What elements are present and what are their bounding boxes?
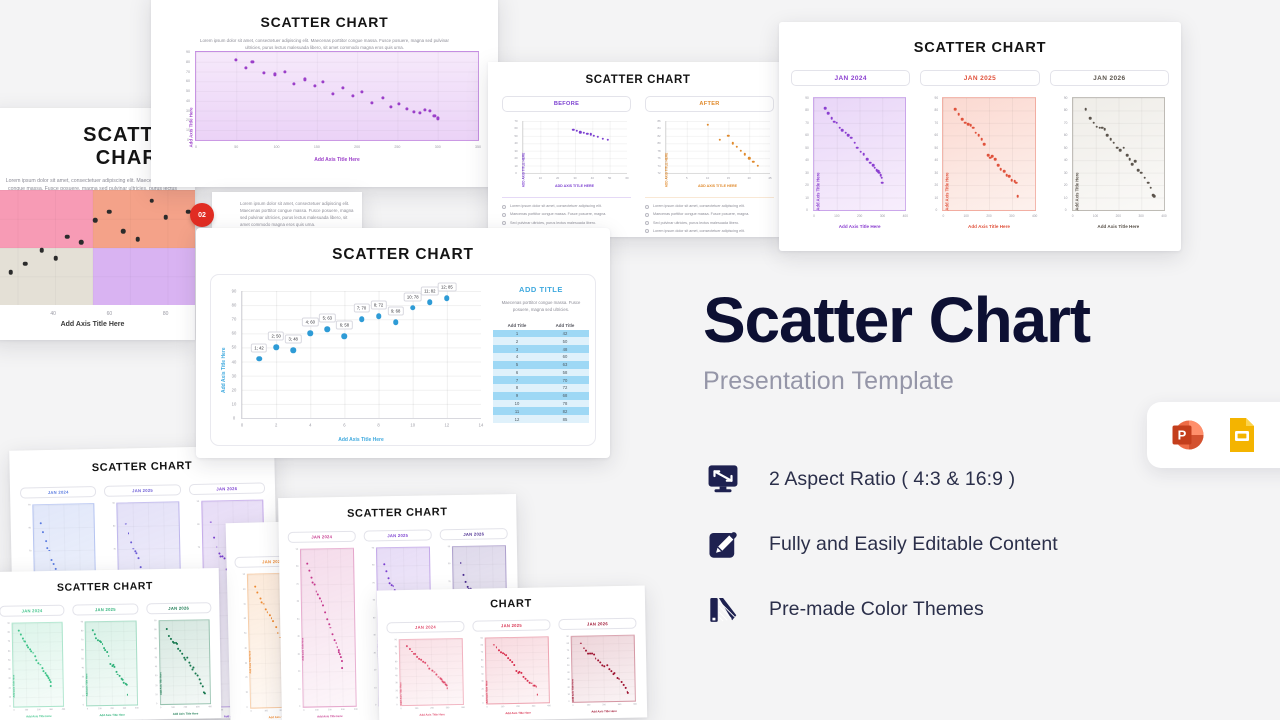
- data-point: [204, 692, 206, 694]
- panel-label-before[interactable]: BEFORE: [502, 96, 631, 112]
- page-title: Scatter Chart: [703, 288, 1183, 353]
- data-point-label: 12; 85: [438, 283, 457, 292]
- mini-panel-label[interactable]: JAN 2026: [189, 482, 266, 495]
- panel-label-after[interactable]: AFTER: [645, 96, 774, 112]
- mini-panel-label[interactable]: JAN 2024: [0, 605, 65, 617]
- data-point: [177, 647, 179, 649]
- x-tick: 300: [1009, 214, 1014, 218]
- y-tick: 90: [28, 504, 30, 506]
- axis-y-label: Add Axis Title Here: [399, 682, 402, 705]
- y-tick: 50: [935, 146, 939, 150]
- x-tick: 10: [706, 176, 709, 180]
- x-tick: 0: [251, 711, 252, 713]
- data-point: [79, 240, 84, 245]
- slide-wide-purple[interactable]: SCATTER CHART Lorem ipsum dolor sit amet…: [151, 0, 498, 187]
- data-point: [92, 630, 94, 632]
- data-point: [50, 559, 52, 561]
- x-tick: 100: [963, 214, 968, 218]
- x-tick: 0: [195, 145, 197, 149]
- panel-chart: 0102030405060700102030405060ADD AXIS TIT…: [502, 118, 631, 190]
- list-item: Maecenas porttitor congue massa. Fusce p…: [502, 212, 631, 217]
- data-point: [325, 326, 331, 332]
- x-tick: 200: [857, 214, 862, 218]
- x-tick: 200: [516, 706, 520, 708]
- x-tick: 15: [727, 176, 730, 180]
- plot-grid: [301, 549, 356, 707]
- y-tick: 30: [567, 679, 569, 681]
- y-tick: 0: [568, 701, 569, 703]
- x-tick: 200: [110, 708, 114, 710]
- labeled-chart-panel: 1; 422; 503; 484; 605; 636; 587; 708; 72…: [210, 274, 596, 446]
- x-tick: 300: [49, 709, 53, 711]
- y-tick: 90: [1064, 96, 1068, 100]
- y-tick: 70: [567, 650, 569, 652]
- x-tick: 100: [501, 706, 505, 708]
- y-tick: 80: [805, 108, 809, 112]
- data-point: [254, 585, 256, 587]
- axis-y-label: Add Axis Title Here: [485, 681, 488, 704]
- data-point: [136, 552, 138, 554]
- slide-theme-green[interactable]: SCATTER CHART JAN 2024010203040506070809…: [0, 568, 221, 720]
- axis-x-label: Add Axis Title Here: [486, 710, 550, 715]
- table-cell: 82: [541, 407, 589, 415]
- y-tick: 40: [186, 99, 190, 103]
- table-cell: 6: [493, 369, 541, 377]
- data-point: [273, 345, 279, 351]
- y-tick: 60: [514, 126, 517, 130]
- slide-title: SCATTER CHART: [488, 74, 788, 86]
- pencil-edit-icon: [703, 524, 743, 564]
- data-point-label: 6; 58: [336, 321, 352, 330]
- data-point: [853, 142, 856, 145]
- data-point: [328, 623, 330, 625]
- feature-row-1: 2 Aspect Ratio ( 4:3 & 16:9 ): [703, 459, 1183, 499]
- panel-label-1[interactable]: JAN 2024: [791, 70, 910, 86]
- wide-scatter-chart: 0102030405060708090050100150200250300350…: [165, 47, 485, 167]
- divider: [645, 197, 774, 198]
- data-point: [198, 678, 200, 680]
- data-point-label: 9; 68: [387, 307, 403, 316]
- axis-y-label: Add Axis Title Here: [221, 347, 227, 393]
- y-tick: 30: [245, 662, 247, 664]
- data-point: [193, 667, 195, 669]
- data-point: [23, 262, 28, 267]
- x-tick: 400: [135, 707, 139, 709]
- x-tick: 400: [1161, 214, 1166, 218]
- mini-panel-label[interactable]: JAN 2025: [472, 619, 550, 631]
- y-tick: 50: [395, 668, 397, 670]
- y-tick: 70: [154, 639, 156, 641]
- axis-x-label: Add Axis Title Here: [195, 157, 479, 163]
- x-tick: 150: [314, 145, 320, 149]
- data-point: [36, 659, 38, 661]
- data-point-label: 4; 60: [302, 318, 318, 327]
- y-tick: 10: [82, 695, 84, 697]
- mini-panel-chart: 01020304050607080900100200300400Add Axis…: [0, 620, 67, 720]
- data-point: [336, 646, 338, 648]
- panel-chart: 01020304050607080900100200300400Add Axis…: [791, 93, 910, 233]
- three-panel-item: JAN 202401020304050607080900100200300400…: [791, 70, 910, 233]
- x-tick: 400: [547, 705, 551, 707]
- svg-text:P: P: [1178, 428, 1187, 443]
- data-point: [54, 256, 59, 261]
- x-tick: 0: [572, 705, 573, 707]
- data-point: [52, 563, 54, 565]
- x-tick: 200: [1116, 214, 1121, 218]
- data-point: [1015, 181, 1018, 184]
- bullet-icon: [645, 229, 649, 233]
- table-cell: 5: [493, 361, 541, 369]
- table-cell: 85: [541, 415, 589, 423]
- y-tick: 40: [297, 636, 299, 638]
- plot-area: 01020304050607080900100200300400: [12, 622, 65, 708]
- y-tick: 40: [82, 667, 84, 669]
- x-tick: 200: [37, 709, 41, 711]
- y-tick: 70: [232, 317, 237, 322]
- y-tick: 0: [515, 171, 517, 175]
- list-item: Maecenas porttitor congue massa. Fusce p…: [645, 212, 774, 217]
- data-point: [535, 686, 537, 688]
- y-tick: 82: [657, 134, 660, 138]
- data-point: [580, 642, 582, 644]
- y-tick: 60: [186, 79, 190, 83]
- y-tick: 70: [198, 546, 200, 548]
- x-tick: 60: [625, 176, 628, 180]
- y-tick: 90: [186, 50, 190, 54]
- y-tick: 80: [243, 589, 245, 591]
- data-point: [983, 143, 986, 146]
- x-tick: 100: [587, 705, 591, 707]
- y-tick: 70: [395, 654, 397, 656]
- data-point: [319, 597, 321, 599]
- x-tick: 300: [123, 708, 127, 710]
- list-item-label: Maecenas porttitor congue massa. Fusce p…: [510, 212, 606, 217]
- feature-row-3: Pre-made Color Themes: [703, 589, 1183, 629]
- data-point: [954, 108, 957, 111]
- mini-panel-label[interactable]: JAN 2024: [288, 531, 356, 543]
- mini-panels-red: JAN 202401020304050607080900100200300400…: [377, 607, 647, 719]
- table-cell: 58: [541, 369, 589, 377]
- data-point: [610, 671, 612, 673]
- data-point: [593, 654, 595, 656]
- data-point: [850, 137, 853, 140]
- x-tick: 300: [446, 707, 450, 709]
- axis-y-label: ADD AXIS TITLE HERE: [521, 153, 525, 188]
- slide-labeled-scatter[interactable]: SCATTER CHART 1; 422; 503; 484; 605; 636…: [196, 228, 610, 458]
- y-tick: 10: [568, 694, 570, 696]
- x-tick: 30: [573, 176, 576, 180]
- table-row: 348: [493, 345, 589, 353]
- mini-panel-label[interactable]: JAN 2026: [558, 618, 636, 630]
- labeled-side-panel: ADD TITLE Maecenas porttitor congue mass…: [491, 275, 595, 445]
- data-point: [1153, 195, 1156, 198]
- data-point: [1123, 146, 1126, 149]
- plot-grid: [196, 52, 478, 140]
- y-tick: 50: [805, 146, 809, 150]
- mini-panel-label[interactable]: JAN 2025: [104, 484, 181, 497]
- y-tick: 40: [395, 675, 397, 677]
- data-point: [263, 603, 265, 605]
- data-point: [114, 666, 116, 668]
- plot-grid: [1073, 98, 1164, 210]
- y-tick: 20: [514, 156, 517, 160]
- bullet-icon: [502, 213, 506, 217]
- panel-label-2[interactable]: JAN 2025: [920, 70, 1039, 86]
- data-point: [48, 550, 50, 552]
- panel-label-3[interactable]: JAN 2026: [1050, 70, 1169, 86]
- data-point: [1089, 117, 1092, 120]
- slide-before-after[interactable]: SCATTER CHART BEFORE01020304050607001020…: [488, 62, 788, 237]
- mini-panel-label[interactable]: JAN 2025: [73, 603, 139, 615]
- data-point: [997, 164, 1000, 167]
- table-cell: 1: [493, 330, 541, 338]
- data-point: [1109, 138, 1112, 141]
- list-item-label: Sed pulvinar ultricies, purus lectus mal…: [653, 221, 739, 226]
- table-cell: 7: [493, 376, 541, 384]
- x-tick: 200: [328, 709, 332, 711]
- x-tick: 400: [633, 704, 637, 706]
- data-point: [259, 597, 261, 599]
- y-tick: 80: [296, 566, 298, 568]
- data-point: [827, 112, 830, 115]
- data-point: [121, 679, 123, 681]
- plot-area: 0102030405060700102030405060: [522, 121, 627, 174]
- y-tick: 50: [244, 633, 246, 635]
- y-tick: 30: [232, 373, 237, 378]
- x-tick: 0: [160, 707, 161, 709]
- data-point: [317, 594, 319, 596]
- y-tick: 0: [396, 704, 397, 706]
- panel-chart: 01020304050607080900100200300400Add Axis…: [1050, 93, 1169, 233]
- mini-panel-item: JAN 202601020304050607080900100200300400…: [558, 618, 638, 716]
- y-tick: 70: [113, 548, 115, 550]
- data-point: [188, 662, 190, 664]
- monitor-aspect-ratio-icon: [703, 459, 743, 499]
- y-tick: 20: [232, 387, 237, 392]
- y-tick: 90: [567, 636, 569, 638]
- y-tick: 10: [1064, 196, 1068, 200]
- axis-x-label: ADD AXIS TITLE HERE: [522, 184, 627, 188]
- data-point: [977, 134, 980, 137]
- axis-x-label: Add Axis Title Here: [303, 714, 357, 719]
- data-point: [196, 675, 198, 677]
- x-tick: 400: [208, 706, 212, 708]
- data-point: [958, 113, 961, 116]
- y-tick: 0: [482, 703, 483, 705]
- table-cell: 48: [541, 345, 589, 353]
- mini-panel-label[interactable]: JAN 2025: [364, 529, 432, 541]
- y-tick: 90: [243, 574, 245, 576]
- axis-x-label: Add Axis Title Here: [813, 224, 906, 229]
- feature-label: Pre-made Color Themes: [769, 598, 984, 621]
- mini-panel-chart: 01020304050607080900100200300400Add Axis…: [387, 636, 467, 719]
- data-point: [881, 181, 884, 184]
- data-point: [1147, 181, 1150, 184]
- data-point: [130, 541, 132, 543]
- table-cell: 42: [541, 330, 589, 338]
- data-point: [179, 650, 181, 652]
- plot-area: 01020304050607080900100200300400: [399, 638, 464, 706]
- table-header: Add Title: [541, 321, 589, 330]
- panel-chart: 01020304050607080900100200300400Add Axis…: [920, 93, 1039, 233]
- data-point: [320, 601, 322, 603]
- x-tick: 80: [163, 311, 169, 317]
- y-tick: 0: [233, 416, 235, 421]
- data-point: [49, 681, 51, 683]
- data-point: [308, 570, 310, 572]
- y-tick: 72: [657, 171, 660, 175]
- y-tick: 60: [481, 659, 483, 661]
- data-point: [433, 671, 435, 673]
- x-tick: 100: [1093, 214, 1098, 218]
- x-tick: 300: [341, 709, 345, 711]
- data-table: Add TitleAdd Title1422503484605636587708…: [493, 321, 589, 423]
- data-point: [22, 637, 24, 639]
- data-point: [831, 117, 834, 120]
- plot-area: 01020304050607080900100200300400: [942, 97, 1035, 211]
- data-point: [495, 647, 497, 649]
- data-point: [623, 684, 625, 686]
- y-tick: 30: [8, 678, 10, 680]
- axis-y-label: Add Axis Title Here: [12, 675, 15, 698]
- data-point: [1003, 170, 1006, 173]
- slide-three-panel[interactable]: SCATTER CHART JAN 2024010203040506070809…: [779, 22, 1181, 251]
- data-point: [272, 620, 274, 622]
- x-tick: 50: [234, 145, 238, 149]
- data-point: [1008, 175, 1011, 178]
- bullet-icon: [645, 205, 649, 209]
- y-tick: 50: [232, 345, 237, 350]
- table-row: 142: [493, 330, 589, 338]
- x-tick: 12: [445, 423, 450, 428]
- table-row: 968: [493, 392, 589, 400]
- x-tick: 5: [686, 176, 688, 180]
- y-tick: 90: [481, 638, 483, 640]
- data-point: [341, 660, 343, 662]
- data-point: [269, 615, 271, 617]
- data-point: [308, 331, 314, 337]
- mini-panel-label[interactable]: JAN 2024: [20, 486, 97, 499]
- y-tick: 90: [395, 639, 397, 641]
- y-tick: 50: [186, 89, 190, 93]
- y-tick: 0: [299, 706, 300, 708]
- data-point: [9, 270, 14, 275]
- y-tick: 40: [244, 648, 246, 650]
- table-cell: 72: [541, 384, 589, 392]
- mini-panel-item: JAN 202501020304050607080900100200300400…: [73, 603, 140, 719]
- y-tick: 10: [298, 688, 300, 690]
- data-point: [866, 158, 869, 161]
- mini-panel-label[interactable]: JAN 2026: [440, 528, 508, 540]
- data-point: [446, 687, 448, 689]
- y-tick: 10: [514, 164, 517, 168]
- y-tick: 70: [81, 640, 83, 642]
- list-item: Lorem ipsum dolor sit amet, consectetuer…: [645, 229, 774, 234]
- mini-panel-label[interactable]: JAN 2024: [386, 621, 464, 633]
- data-point: [427, 300, 433, 306]
- bullet-icon: [645, 213, 649, 217]
- data-point: [314, 583, 316, 585]
- y-tick: 70: [448, 581, 450, 583]
- slide-theme-red[interactable]: CHART JAN 202401020304050607080900100200…: [377, 585, 647, 720]
- google-slides-icon: [1222, 415, 1262, 455]
- plot-area: 0102030405060708090050100150200250300350: [195, 51, 479, 141]
- x-tick: 25: [768, 176, 771, 180]
- data-point: [139, 566, 141, 568]
- table-cell: 70: [541, 376, 589, 384]
- data-point: [40, 248, 45, 253]
- data-point: [856, 146, 859, 149]
- y-tick: 20: [298, 671, 300, 673]
- data-point: [95, 637, 97, 639]
- y-tick: 0: [9, 706, 10, 708]
- data-point: [1134, 160, 1137, 163]
- y-tick: 60: [1064, 133, 1068, 137]
- table-cell: 3: [493, 345, 541, 353]
- y-tick: 0: [247, 707, 248, 709]
- data-point: [599, 661, 601, 663]
- y-tick: 10: [232, 401, 237, 406]
- x-tick: 0: [1072, 214, 1074, 218]
- data-point: [1149, 186, 1152, 189]
- y-tick: 10: [805, 196, 809, 200]
- x-tick: 400: [461, 707, 465, 709]
- table-cell: 63: [541, 361, 589, 369]
- y-tick: 90: [296, 549, 298, 551]
- table-row: 1182: [493, 407, 589, 415]
- y-tick: 0: [806, 208, 808, 212]
- data-point: [190, 665, 192, 667]
- axis-x-label: Add Axis Title Here: [160, 711, 211, 716]
- data-point: [168, 635, 170, 637]
- slide-title: SCATTER CHART: [196, 246, 610, 264]
- data-point: [1144, 176, 1147, 179]
- x-tick: 40: [591, 176, 594, 180]
- data-point: [55, 568, 57, 570]
- data-point: [128, 532, 130, 534]
- data-point: [223, 557, 225, 559]
- plot-area: 01020304050607080900100200300400: [300, 548, 357, 708]
- data-point: [125, 523, 127, 525]
- table-header: Add Title: [493, 321, 541, 330]
- x-tick: 0: [400, 708, 401, 710]
- y-tick: 60: [155, 648, 157, 650]
- data-point: [94, 633, 96, 635]
- y-tick: 30: [298, 653, 300, 655]
- y-tick: 0: [1065, 208, 1067, 212]
- list-item: Sed pulvinar ultricies, purus lectus mal…: [502, 221, 631, 226]
- data-point: [176, 643, 178, 645]
- y-tick: 30: [805, 171, 809, 175]
- y-tick: 80: [372, 565, 374, 567]
- axis-y-label: Add Axis Title Here: [301, 638, 304, 661]
- feature-label: Fully and Easily Editable Content: [769, 533, 1058, 556]
- y-tick: 60: [81, 649, 83, 651]
- y-tick: 90: [232, 289, 237, 294]
- plot-grid: [0, 190, 195, 305]
- mini-panel-label[interactable]: JAN 2026: [146, 602, 212, 614]
- x-tick: 300: [880, 214, 885, 218]
- data-point: [824, 107, 827, 110]
- data-point: [202, 686, 204, 688]
- y-tick: 10: [155, 694, 157, 696]
- data-point: [277, 632, 279, 634]
- data-point: [40, 522, 42, 524]
- y-tick: 30: [374, 652, 376, 654]
- y-tick: 60: [395, 661, 397, 663]
- data-point: [108, 655, 110, 657]
- x-tick: 400: [62, 709, 66, 711]
